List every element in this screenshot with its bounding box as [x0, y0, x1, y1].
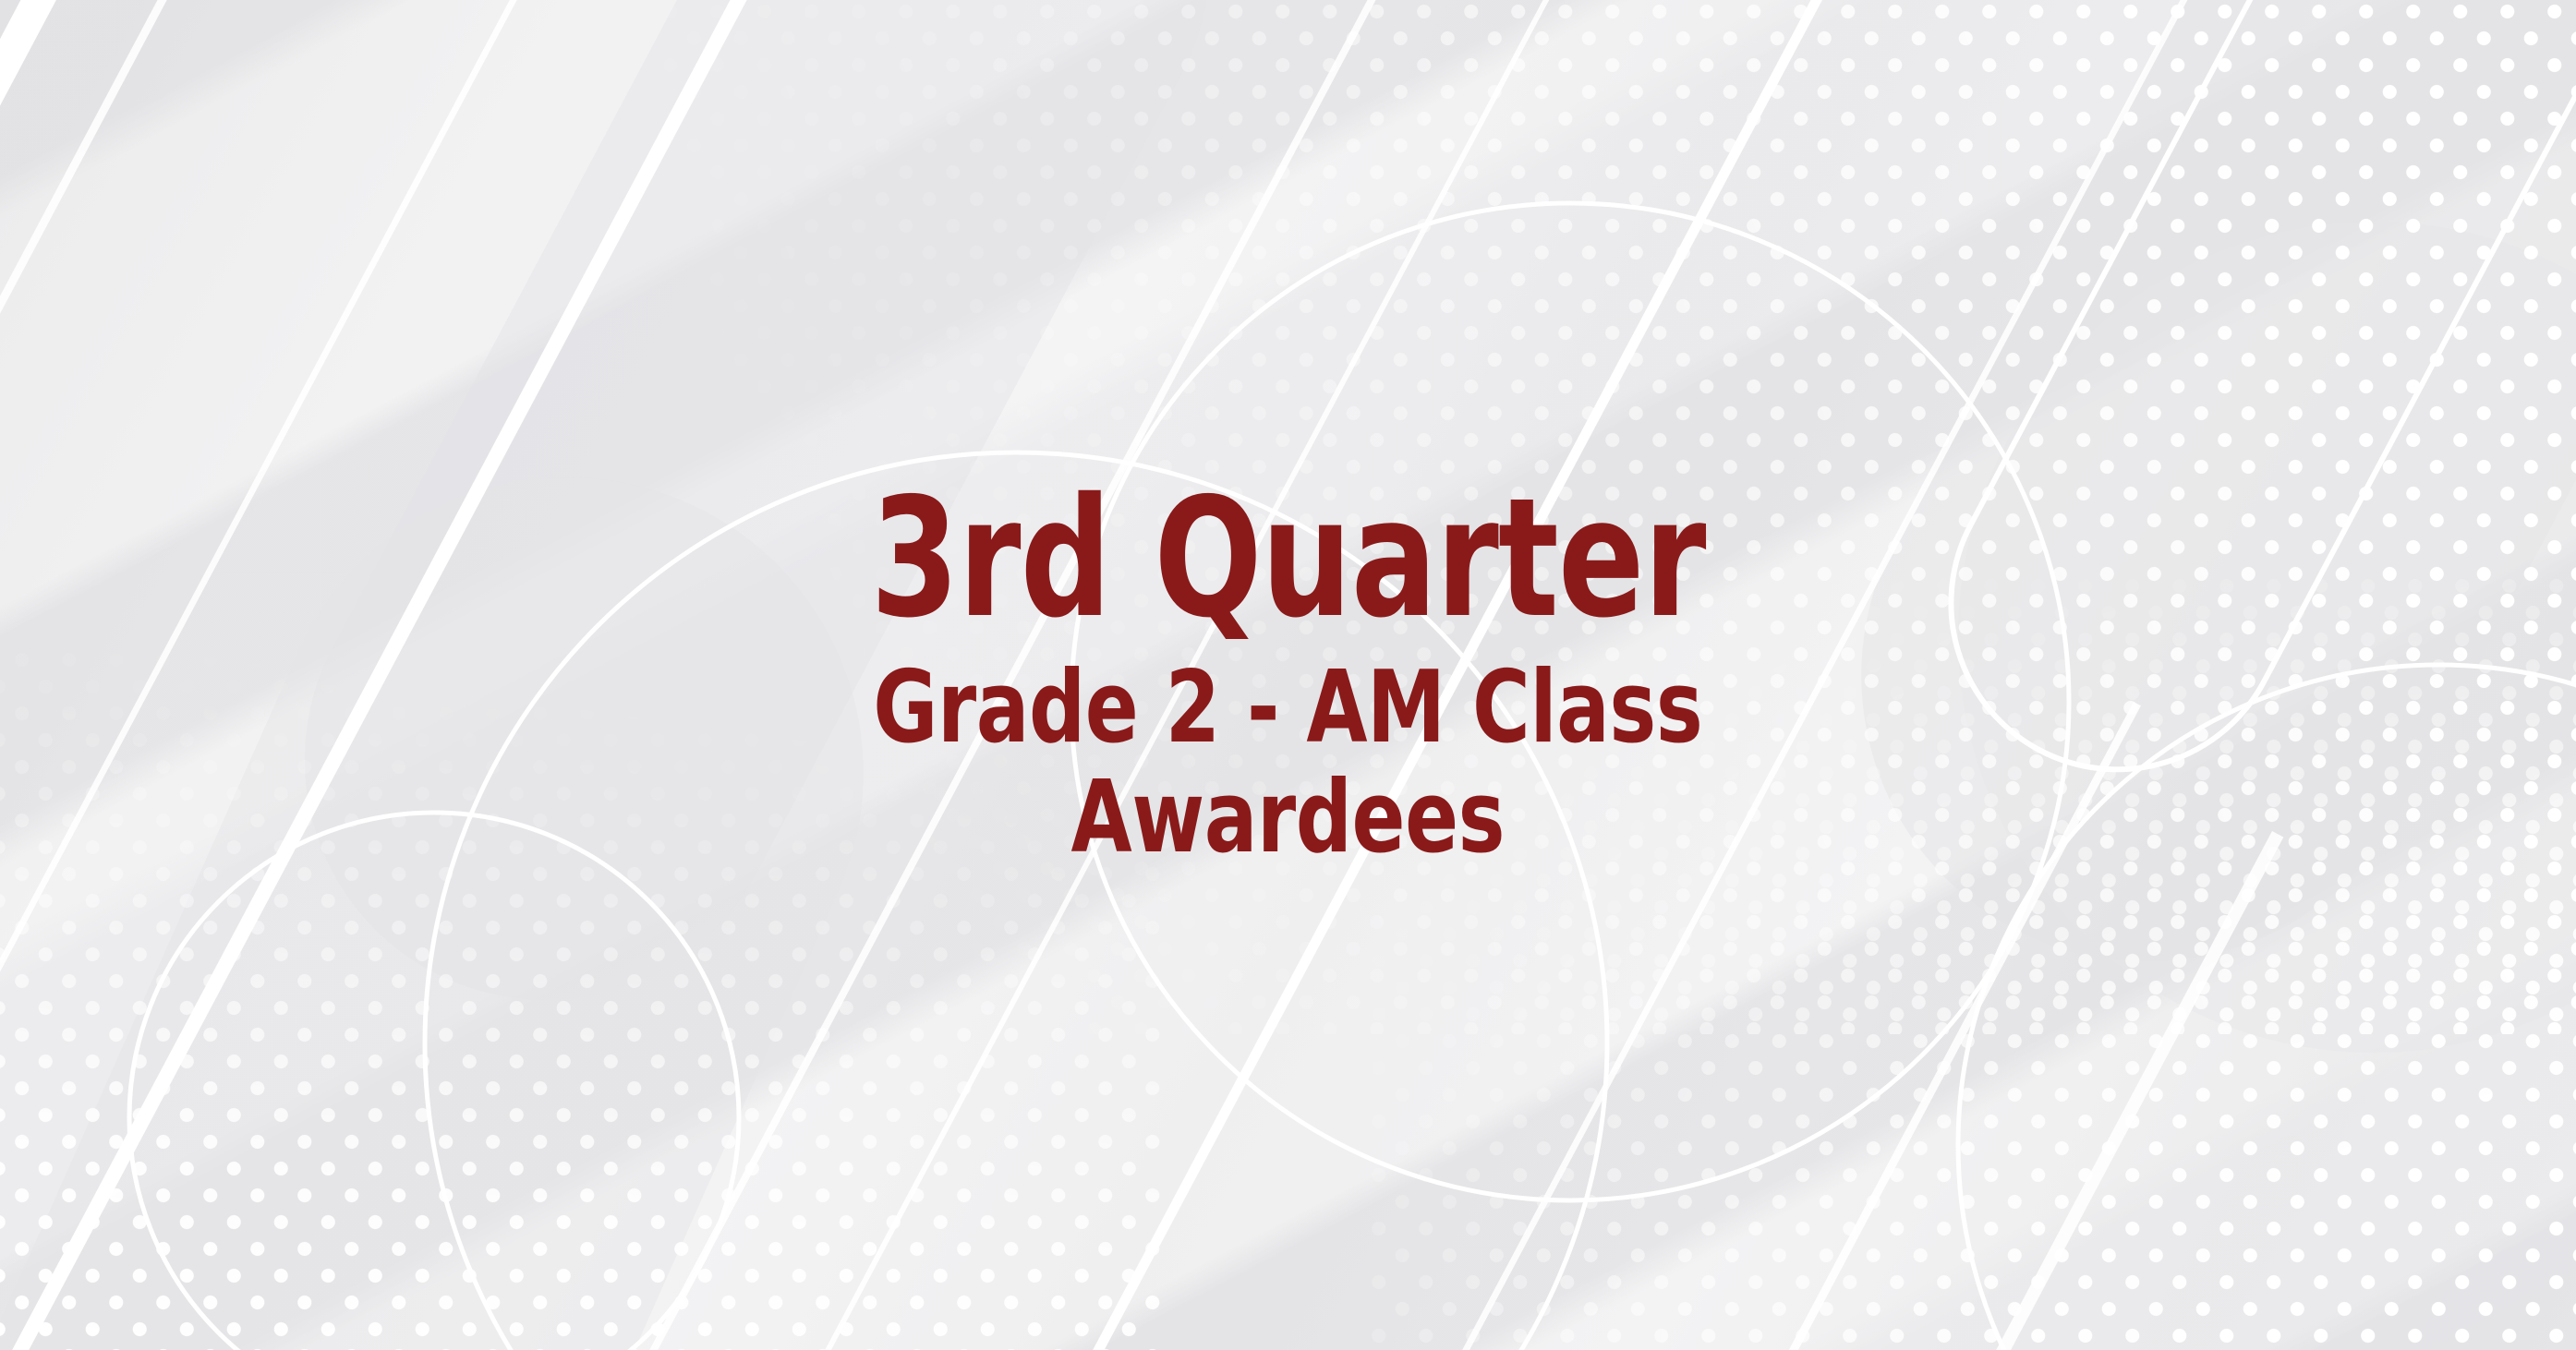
- page-subtitle-line-2: Awardees: [873, 764, 1702, 874]
- slide-canvas: 3rd Quarter Grade 2 - AM Class Awardees: [0, 0, 2576, 1350]
- page-subtitle-line-1: Grade 2 - AM Class: [873, 654, 1702, 764]
- slide-text-block: 3rd Quarter Grade 2 - AM Class Awardees: [0, 0, 2576, 1350]
- page-subtitle: Grade 2 - AM Class Awardees: [873, 654, 1702, 874]
- page-title: 3rd Quarter: [870, 476, 1705, 641]
